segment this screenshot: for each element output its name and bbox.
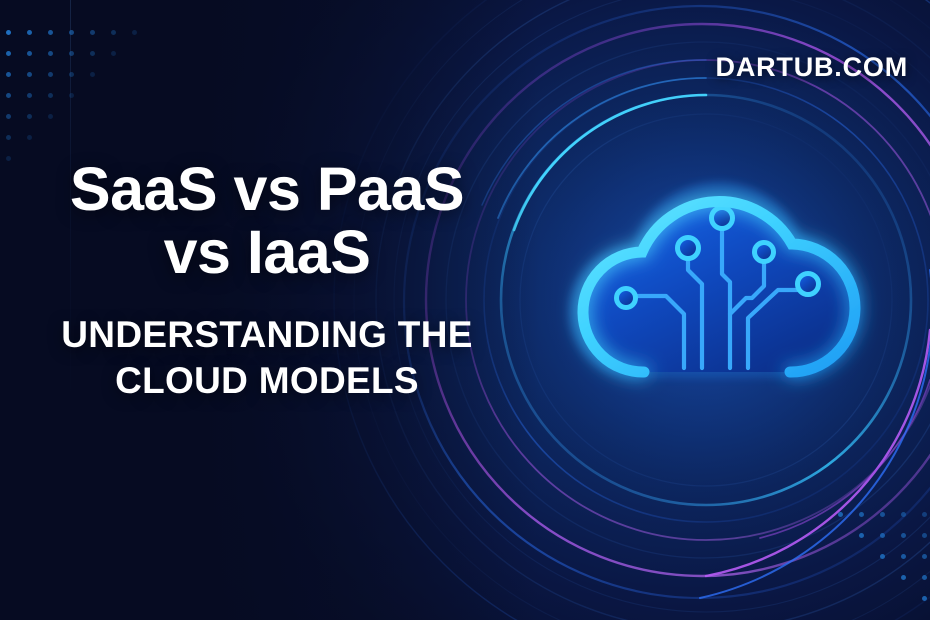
title-line-1: SaaS vs PaaS (70, 155, 464, 223)
page-title: SaaS vs PaaS vs IaaS (14, 158, 520, 284)
headline-block: SaaS vs PaaS vs IaaS UNDERSTANDING THE C… (14, 158, 520, 403)
subtitle-line-2: CLOUD MODELS (14, 358, 520, 404)
circuit-node (755, 243, 774, 262)
brand-watermark: DARTUB.COM (716, 52, 908, 83)
circuit-node (617, 289, 636, 308)
circuit-node (712, 208, 733, 229)
circuit-node (678, 238, 699, 259)
poster-canvas: DARTUB.COM SaaS vs PaaS vs IaaS UNDERSTA… (0, 0, 930, 620)
cloud-circuit-icon (516, 118, 916, 478)
circuit-node (798, 274, 819, 295)
subtitle-line-1: UNDERSTANDING THE (61, 314, 472, 355)
page-subtitle: UNDERSTANDING THE CLOUD MODELS (14, 312, 520, 404)
title-line-2: vs IaaS (14, 221, 520, 284)
